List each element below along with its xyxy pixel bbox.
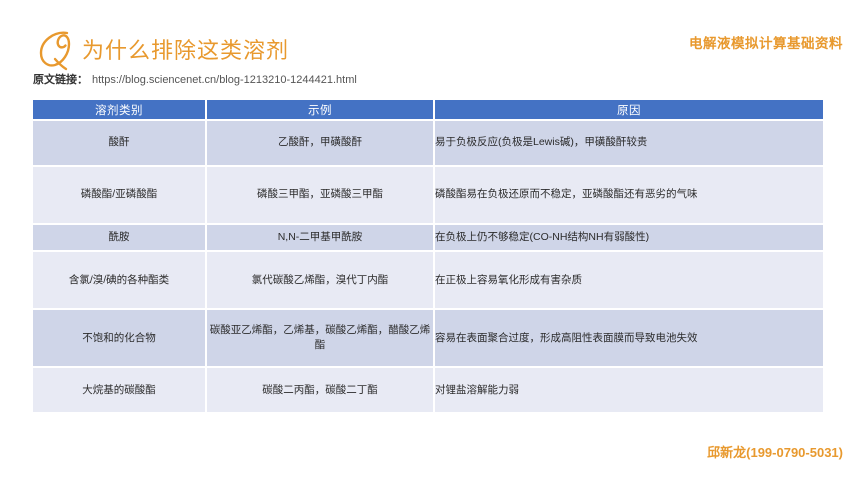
table-row: 不饱和的化合物 碳酸亚乙烯酯，乙烯基，碳酸乙烯酯，醋酸乙烯酯 容易在表面聚合过度… [33,309,823,367]
cell-reason: 对锂盐溶解能力弱 [434,367,823,412]
cell-reason: 容易在表面聚合过度，形成高阻性表面膜而导致电池失效 [434,309,823,367]
cell-example: 磷酸三甲酯，亚磷酸三甲酯 [206,166,434,224]
table-row: 酸酐 乙酸酐，甲磺酸酐 易于负极反应(负极是Lewis碱)，甲磺酸酐较贵 [33,120,823,166]
source-url[interactable]: https://blog.sciencenet.cn/blog-1213210-… [92,74,357,86]
solvent-exclusion-table-wrapper: 溶剂类别 示例 原因 酸酐 乙酸酐，甲磺酸酐 易于负极反应(负极是Lewis碱)… [33,100,823,412]
footer-contact: 邱新龙(199-0790-5031) [707,442,843,461]
cell-reason: 在负极上仍不够稳定(CO-NH结构NH有弱酸性) [434,224,823,251]
cell-category: 酸酐 [33,120,206,166]
cell-category: 大烷基的碳酸酯 [33,367,206,412]
table-header: 溶剂类别 示例 原因 [33,100,823,120]
table-row: 含氯/溴/碘的各种酯类 氯代碳酸乙烯酯，溴代丁内酯 在正极上容易氧化形成有害杂质 [33,251,823,309]
table-row: 大烷基的碳酸酯 碳酸二丙酯，碳酸二丁酯 对锂盐溶解能力弱 [33,367,823,412]
source-link-line: 原文链接：https://blog.sciencenet.cn/blog-121… [33,71,357,87]
cell-example: 乙酸酐，甲磺酸酐 [206,120,434,166]
solvent-exclusion-table: 溶剂类别 示例 原因 酸酐 乙酸酐，甲磺酸酐 易于负极反应(负极是Lewis碱)… [33,100,823,412]
column-header-category: 溶剂类别 [33,100,206,120]
table-row: 磷酸酯/亚磷酸酯 磷酸三甲酯，亚磷酸三甲酯 磷酸酯易在负极还原而不稳定，亚磷酸酯… [33,166,823,224]
column-header-reason: 原因 [434,100,823,120]
cell-category: 含氯/溴/碘的各种酯类 [33,251,206,309]
cell-category: 不饱和的化合物 [33,309,206,367]
column-header-example: 示例 [206,100,434,120]
page-title: 为什么排除这类溶剂 [82,33,289,65]
cell-example: 氯代碳酸乙烯酯，溴代丁内酯 [206,251,434,309]
table-body: 酸酐 乙酸酐，甲磺酸酐 易于负极反应(负极是Lewis碱)，甲磺酸酐较贵 磷酸酯… [33,120,823,412]
stylized-q-logo-icon [34,26,80,72]
slide-canvas: 为什么排除这类溶剂 原文链接：https://blog.sciencenet.c… [0,0,860,484]
cell-example: 碳酸亚乙烯酯，乙烯基，碳酸乙烯酯，醋酸乙烯酯 [206,309,434,367]
cell-reason: 在正极上容易氧化形成有害杂质 [434,251,823,309]
table-header-row: 溶剂类别 示例 原因 [33,100,823,120]
deck-tag: 电解液模拟计算基础资料 [689,32,843,52]
source-label: 原文链接： [33,74,88,86]
cell-example: 碳酸二丙酯，碳酸二丁酯 [206,367,434,412]
cell-reason: 易于负极反应(负极是Lewis碱)，甲磺酸酐较贵 [434,120,823,166]
cell-category: 酰胺 [33,224,206,251]
cell-category: 磷酸酯/亚磷酸酯 [33,166,206,224]
cell-reason: 磷酸酯易在负极还原而不稳定，亚磷酸酯还有恶劣的气味 [434,166,823,224]
cell-example: N,N-二甲基甲酰胺 [206,224,434,251]
table-row: 酰胺 N,N-二甲基甲酰胺 在负极上仍不够稳定(CO-NH结构NH有弱酸性) [33,224,823,251]
